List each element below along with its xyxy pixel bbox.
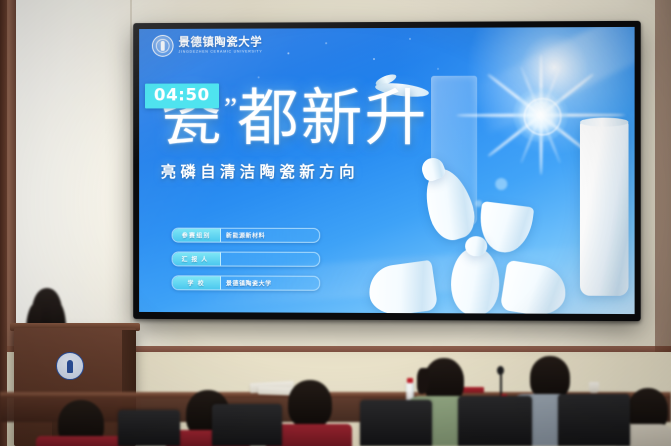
sparkle-icon [325, 42, 327, 44]
presentation-screen[interactable]: 景德镇陶瓷大学 JINGDEZHEN CERAMIC UNIVERSITY 瓷”… [133, 21, 641, 321]
conference-room-scene: 景德镇陶瓷大学 JINGDEZHEN CERAMIC UNIVERSITY 瓷”… [0, 0, 671, 446]
audience-hair [417, 368, 429, 394]
tall-ceramic-cup [580, 120, 629, 296]
ceramic-bowl [476, 201, 534, 255]
info-key-category: 参赛组别 [173, 229, 221, 242]
university-seal-icon [152, 35, 174, 57]
wall-seam [130, 0, 132, 352]
slide-content: 景德镇陶瓷大学 JINGDEZHEN CERAMIC UNIVERSITY 瓷”… [139, 27, 635, 314]
sparkle-icon [258, 76, 260, 78]
ceramic-vase [451, 248, 499, 314]
flare-dot [475, 200, 482, 207]
chair-back [118, 410, 180, 446]
title-quote: ” [224, 92, 237, 125]
right-wall-column [655, 0, 671, 352]
sparkle-icon [373, 58, 375, 60]
university-crest-icon [56, 352, 84, 380]
slide-university-header: 景德镇陶瓷大学 JINGDEZHEN CERAMIC UNIVERSITY [152, 35, 263, 57]
title-part2: 都新升 [237, 85, 428, 153]
chair-back [212, 404, 282, 446]
slide-info-list: 参赛组别 新能源新材料 汇报人 学 校 景德镇陶瓷大学 [172, 228, 321, 291]
info-row-presenter: 汇报人 [172, 251, 321, 266]
water-bottle-cap [407, 378, 413, 383]
chair-back [458, 396, 532, 446]
info-value-school: 景德镇陶瓷大学 [221, 276, 319, 289]
audience-red-shirt [36, 436, 122, 446]
ceramic-vase-neck [465, 236, 487, 256]
paper-cup [589, 382, 599, 393]
ceramic-shard-left [366, 260, 438, 314]
university-name-cn: 景德镇陶瓷大学 [179, 37, 263, 49]
countdown-timer: 04:50 [145, 83, 219, 108]
sparkle-icon [409, 38, 411, 40]
info-value-category: 新能源新材料 [221, 229, 319, 242]
microphone-icon [497, 366, 504, 375]
slide-subtitle: 亮磷自清洁陶瓷新方向 [161, 160, 510, 182]
flare-dot [459, 218, 464, 223]
sparkle-icon [287, 52, 289, 54]
ceramic-shard-right [500, 260, 570, 314]
university-name-en: JINGDEZHEN CERAMIC UNIVERSITY [179, 50, 263, 54]
info-row-school: 学 校 景德镇陶瓷大学 [172, 275, 321, 290]
info-row-category: 参赛组别 新能源新材料 [172, 228, 321, 243]
chair-back [558, 394, 630, 446]
tall-cup-rim [580, 118, 629, 127]
chair-back [360, 400, 432, 446]
info-key-presenter: 汇报人 [173, 252, 221, 265]
info-value-presenter [221, 253, 319, 266]
sparkle-icon [437, 68, 439, 70]
audience-head [288, 380, 332, 428]
left-edge-trim [0, 0, 7, 446]
info-key-school: 学 校 [173, 276, 221, 289]
